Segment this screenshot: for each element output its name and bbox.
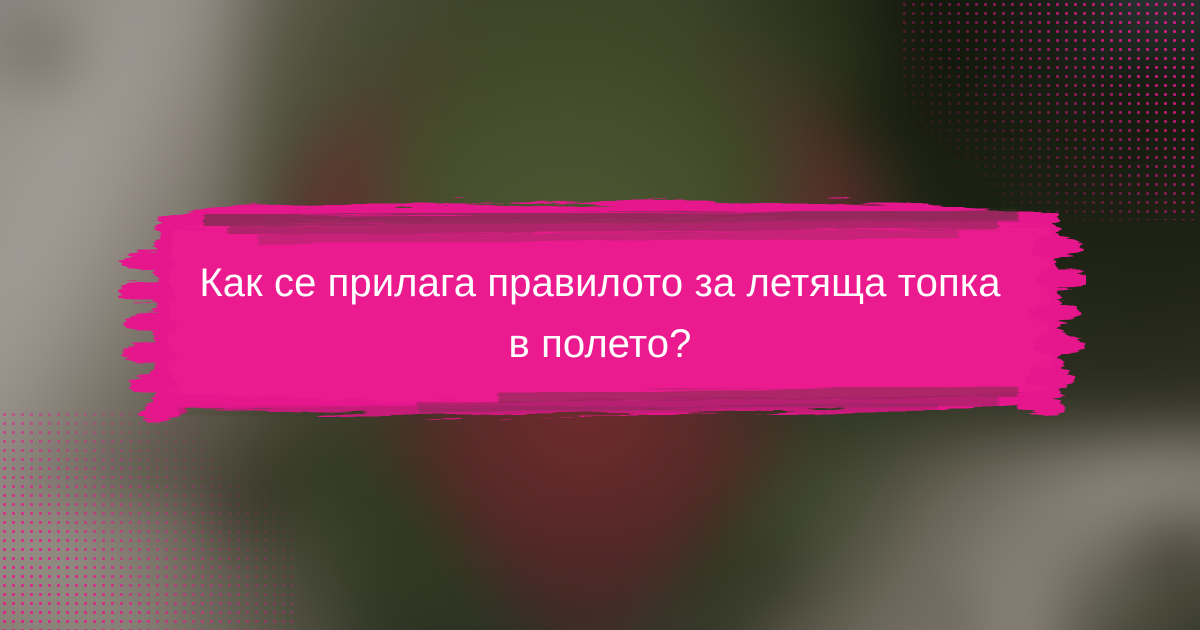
- social-card: Как се прилага правилото за летяща топка…: [0, 0, 1200, 630]
- paint-stroke-banner: [118, 186, 1086, 438]
- paint-stroke-shape: [118, 186, 1086, 438]
